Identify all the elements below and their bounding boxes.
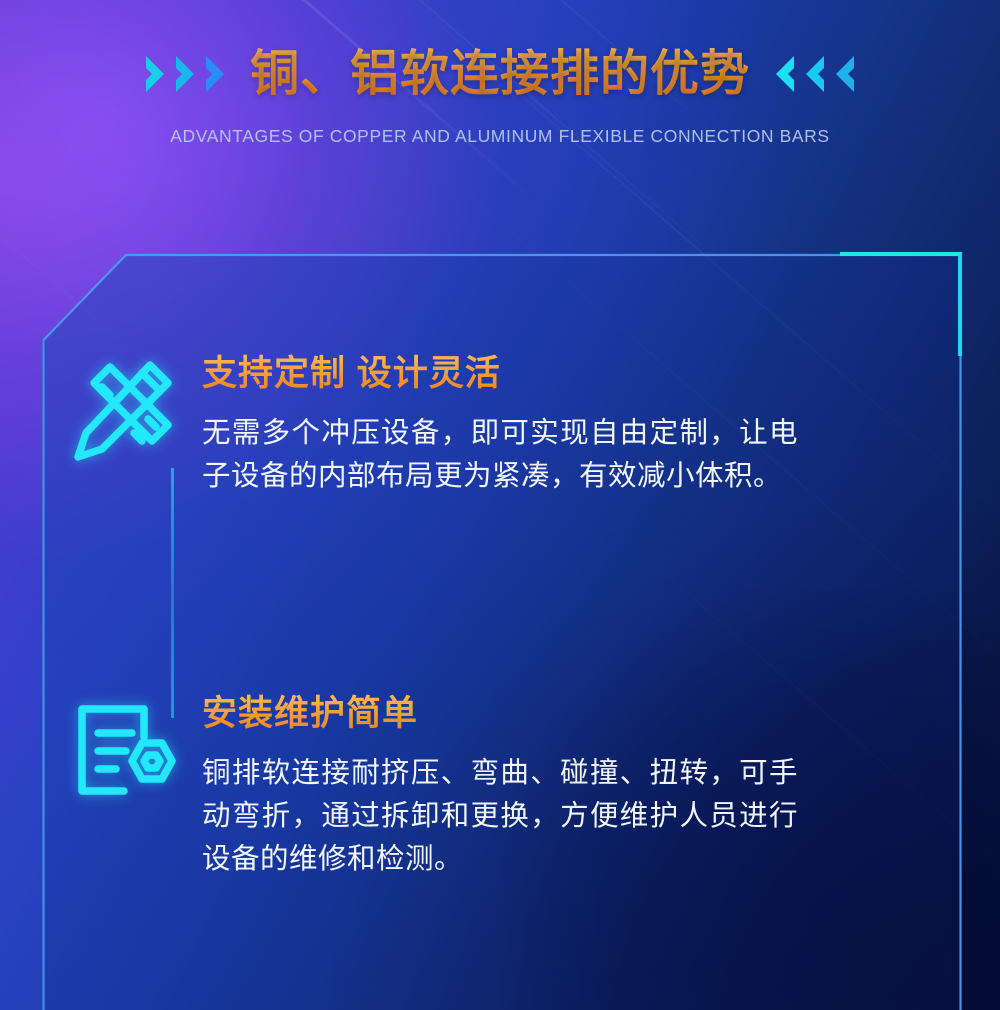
feature-icon-column [42,352,202,498]
title-row: 铜、铝软连接排的优势 [0,38,1000,110]
document-hexnut-icon [63,692,181,810]
header: 铜、铝软连接排的优势 ADVANTAGES OF COPPER AND ALUM… [0,38,1000,147]
feature-title: 安装维护简单 [202,692,822,736]
feature-body: 无需多个冲压设备，即可实现自由定制，让电子设备的内部布局更为紧凑，有效减小体积。 [202,412,798,499]
feature-body: 铜排软连接耐挤压、弯曲、碰撞、扭转，可手动弯折，通过拆卸和更换，方便维护人员进行… [202,752,798,882]
chevron-right-triple-icon [142,53,228,95]
feature-icon-column [42,692,202,882]
feature-title: 支持定制 设计灵活 [202,352,822,396]
icon-connector-line [171,468,174,718]
page-title: 铜、铝软连接排的优势 [250,45,750,104]
feature-text-column: 安装维护简单 铜排软连接耐挤压、弯曲、碰撞、扭转，可手动弯折，通过拆卸和更换，方… [202,692,822,882]
infographic-stage: 铜、铝软连接排的优势 ADVANTAGES OF COPPER AND ALUM… [0,0,1000,1010]
feature-text-column: 支持定制 设计灵活 无需多个冲压设备，即可实现自由定制，让电子设备的内部布局更为… [202,352,822,498]
page-subtitle: ADVANTAGES OF COPPER AND ALUMINUM FLEXIB… [0,126,1000,147]
pencil-ruler-icon [63,352,181,470]
feature-item: 安装维护简单 铜排软连接耐挤压、弯曲、碰撞、扭转，可手动弯折，通过拆卸和更换，方… [42,692,822,882]
chevron-left-triple-icon [772,53,858,95]
feature-item: 支持定制 设计灵活 无需多个冲压设备，即可实现自由定制，让电子设备的内部布局更为… [42,352,822,498]
